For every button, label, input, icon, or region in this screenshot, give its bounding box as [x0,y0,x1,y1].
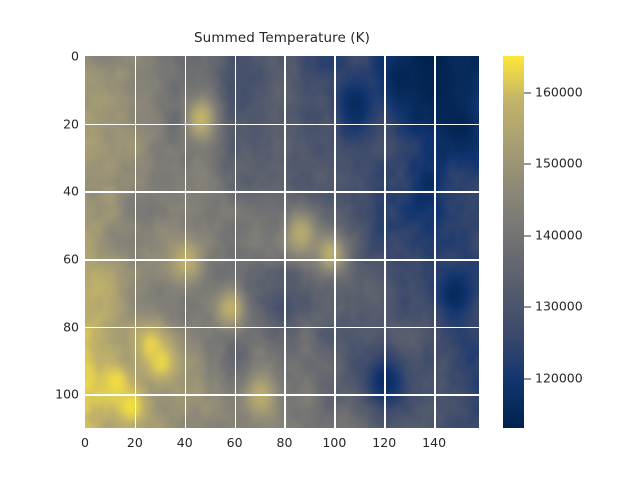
colorbar-tick-mark [524,378,531,379]
heatmap-plot-area [85,56,479,428]
x-axis-tick-labels: 020406080100120140 [85,428,479,458]
colorbar-tick-label: 120000 [524,370,583,385]
colorbar-tick-text: 150000 [535,156,583,171]
colorbar-tick-text: 120000 [535,370,583,385]
colorbar-tick-label: 130000 [524,299,583,314]
colorbar-tick-mark [524,235,531,236]
colorbar-gradient [503,56,524,428]
colorbar-tick-label: 160000 [524,84,583,99]
y-tick-label: 60 [33,251,79,266]
y-axis-tick-labels: 020406080100 [26,56,79,428]
colorbar-tick-mark [524,92,531,93]
matplotlib-figure: Summed Temperature (K) 020406080100 0204… [0,0,640,480]
y-tick-label: 40 [33,184,79,199]
colorbar-tick-mark [524,307,531,308]
y-tick-label: 100 [33,387,79,402]
colorbar-tick-text: 160000 [535,84,583,99]
chart-title: Summed Temperature (K) [85,30,479,46]
colorbar-tick-text: 140000 [535,227,583,242]
colorbar-tick-mark [524,164,531,165]
colorbar: 120000130000140000150000160000 [503,56,524,428]
colorbar-tick-label: 150000 [524,156,583,171]
colorbar-tick-text: 130000 [535,299,583,314]
y-tick-label: 0 [33,49,79,64]
x-tick-label: 140 [404,435,464,450]
y-tick-label: 80 [33,319,79,334]
colorbar-tick-label: 140000 [524,227,583,242]
y-tick-label: 20 [33,116,79,131]
colorbar-tick-labels: 120000130000140000150000160000 [524,56,634,428]
heatmap-image [85,56,479,428]
